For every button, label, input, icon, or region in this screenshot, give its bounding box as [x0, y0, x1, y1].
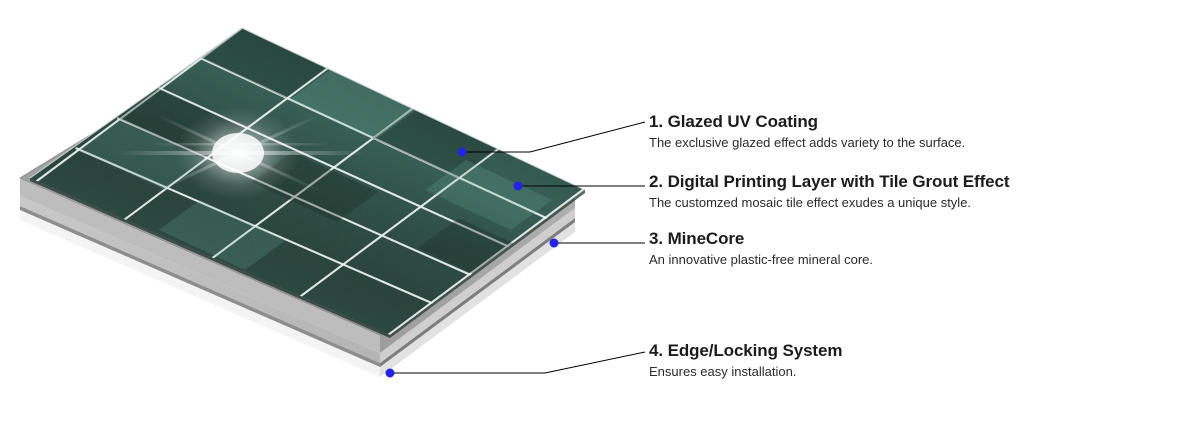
callout-2-description: The customzed mosaic tile effect exudes …	[649, 194, 1009, 212]
callout-4: 4. Edge/Locking System Ensures easy inst…	[649, 341, 842, 381]
printed-tile-surface-layer	[0, 0, 620, 342]
callout-3: 3. MineCore An innovative plastic-free m…	[649, 229, 873, 269]
callout-1-title: 1. Glazed UV Coating	[649, 112, 965, 132]
callout-2: 2. Digital Printing Layer with Tile Grou…	[649, 172, 1009, 212]
flooring-layer-illustration	[0, 0, 620, 421]
callout-1: 1. Glazed UV Coating The exclusive glaze…	[649, 112, 965, 152]
diagram-canvas: 1. Glazed UV Coating The exclusive glaze…	[0, 0, 1200, 421]
callout-4-description: Ensures easy installation.	[649, 363, 842, 381]
callout-3-title: 3. MineCore	[649, 229, 873, 249]
callout-2-title: 2. Digital Printing Layer with Tile Grou…	[649, 172, 1009, 192]
callout-3-description: An innovative plastic-free mineral core.	[649, 251, 873, 269]
callout-1-description: The exclusive glazed effect adds variety…	[649, 134, 965, 152]
callout-4-title: 4. Edge/Locking System	[649, 341, 842, 361]
